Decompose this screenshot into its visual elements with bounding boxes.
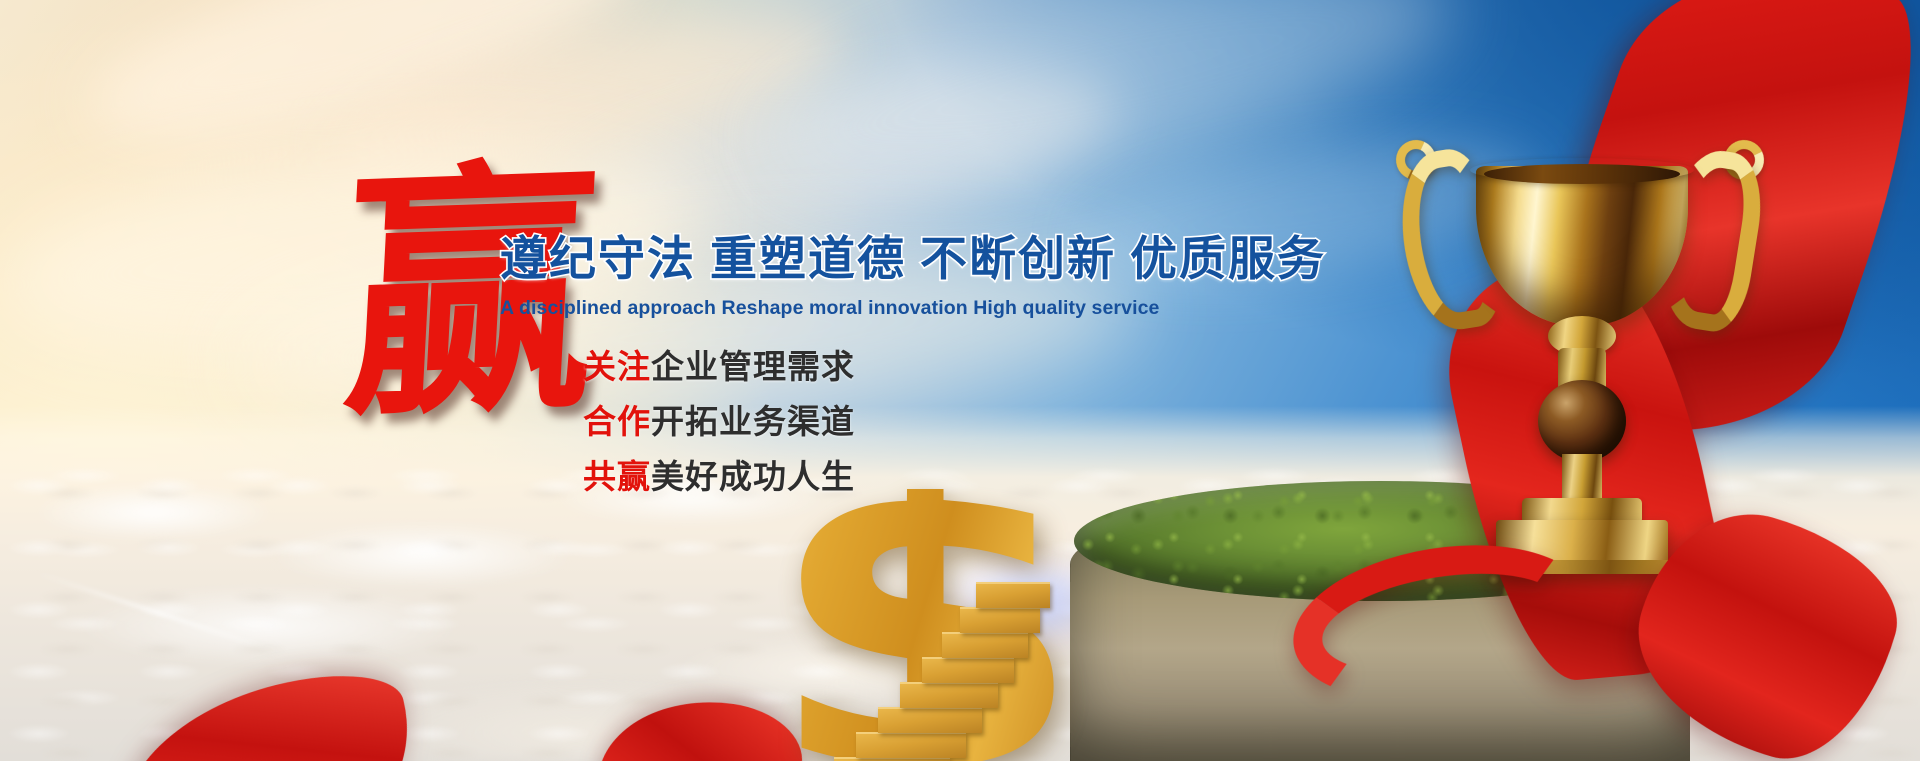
slogan-rest-2: 开拓业务渠道 (651, 402, 855, 441)
golden-dollar-sign-icon: $ (730, 489, 1120, 761)
headline-segment-1: 遵纪守法 (500, 232, 696, 287)
slogan-item-1: 关注企业管理需求 (500, 339, 1220, 394)
stair-step (856, 732, 966, 758)
slogan-item-3: 共赢美好成功人生 (500, 449, 1220, 504)
slogan-rest-1: 企业管理需求 (651, 347, 855, 386)
slogan-accent-1: 关注 (583, 347, 651, 386)
slogan-accent-3: 共赢 (583, 457, 651, 496)
promotional-banner: $ 赢 遵纪守法重塑道德不断创新优质服务 A disciplined appro… (0, 0, 1920, 761)
slogan-item-2: 合作开拓业务渠道 (500, 394, 1220, 449)
headline-segment-4: 优质服务 (1130, 232, 1326, 287)
stair-step (976, 582, 1050, 608)
headline-segment-2: 重塑道德 (710, 232, 906, 287)
slogan-list: 关注企业管理需求 合作开拓业务渠道 共赢美好成功人生 (500, 339, 1220, 504)
stair-step (878, 707, 982, 733)
stair-step (900, 682, 998, 708)
golden-staircase-icon (826, 533, 1076, 761)
trophy-base (1496, 520, 1668, 574)
stair-step (922, 657, 1014, 683)
banner-text-block: 遵纪守法重塑道德不断创新优质服务 A disciplined approach … (500, 232, 1220, 504)
trophy-lower-stem (1562, 454, 1602, 502)
slogan-rest-3: 美好成功人生 (651, 457, 855, 496)
stair-step (942, 632, 1028, 658)
trophy-bulb-ornament (1538, 380, 1626, 462)
headline-chinese: 遵纪守法重塑道德不断创新优质服务 (500, 232, 1220, 288)
stair-step (960, 607, 1040, 633)
slogan-accent-2: 合作 (583, 402, 651, 441)
subtitle-english: A disciplined approach Reshape moral inn… (500, 297, 1220, 320)
trophy-cup-bowl (1476, 166, 1688, 326)
trophy-inner-cavity (1484, 164, 1680, 184)
headline-segment-3: 不断创新 (920, 232, 1116, 287)
gold-trophy-icon (1380, 128, 1780, 598)
